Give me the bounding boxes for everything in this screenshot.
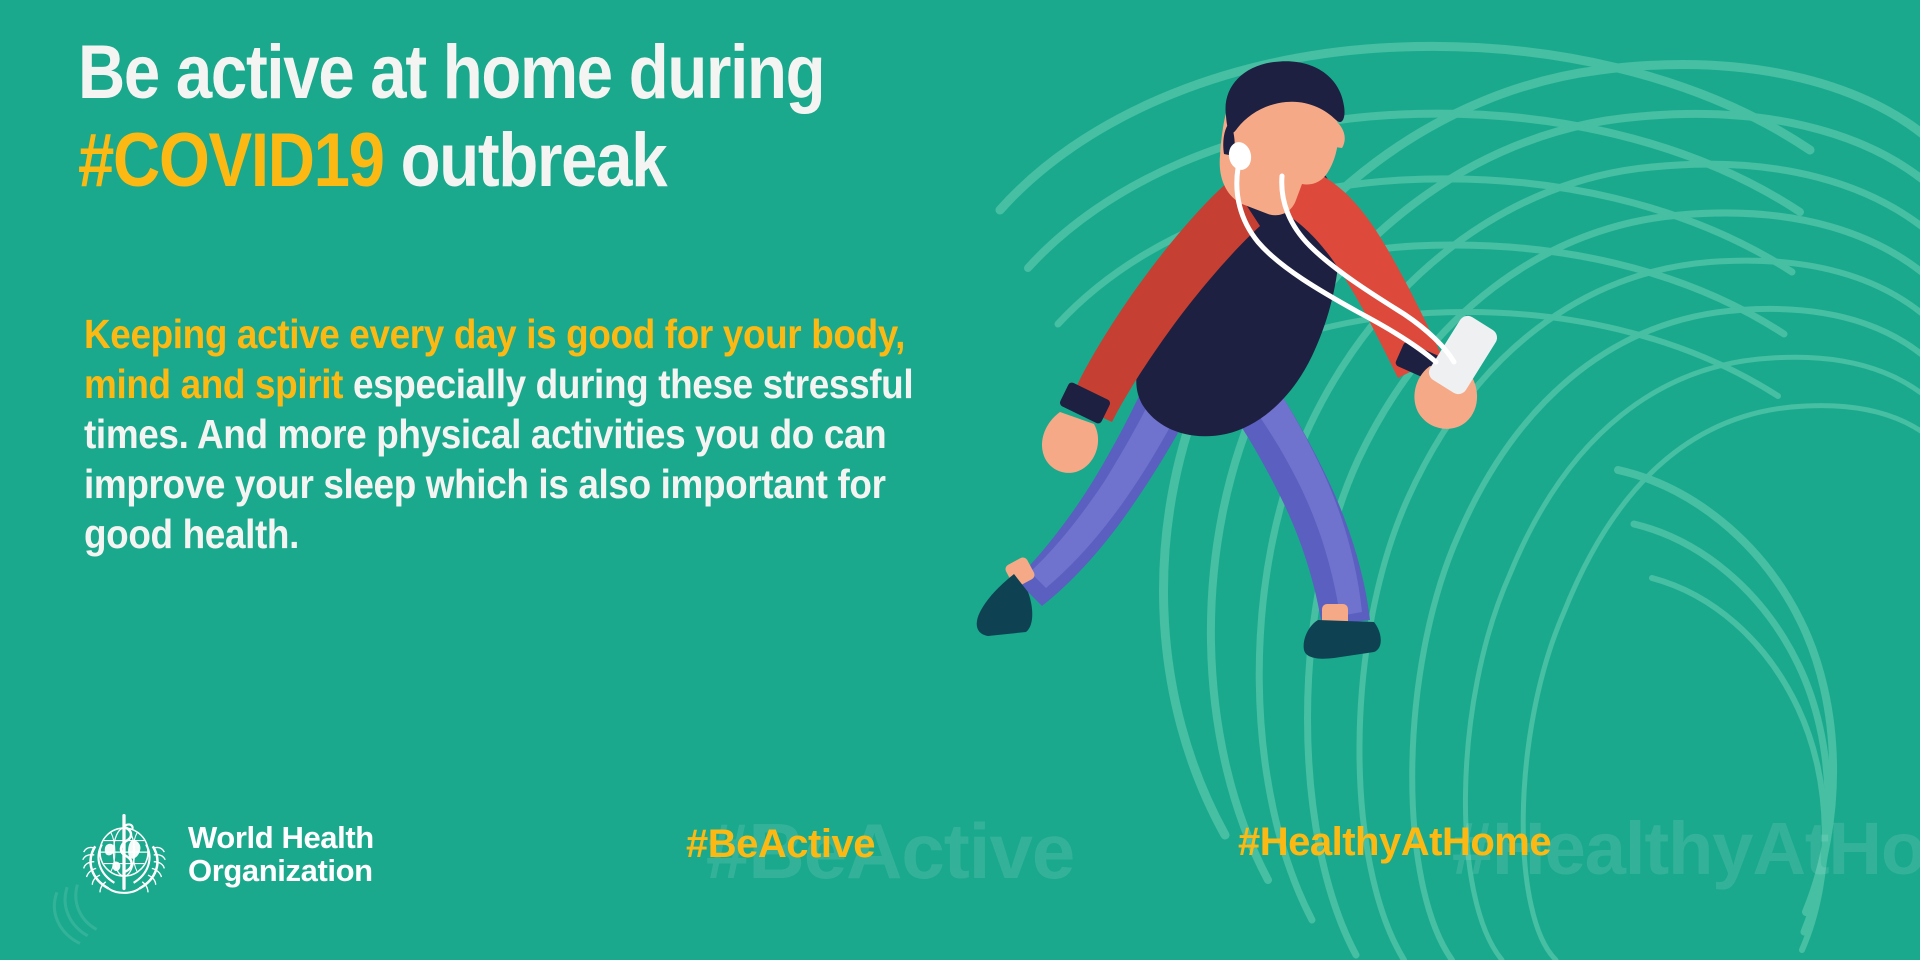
runner-back-shoe — [977, 556, 1037, 636]
runner-rear-hand — [1042, 412, 1098, 473]
body-copy: Keeping active every day is good for you… — [84, 309, 930, 559]
headline-line-1: Be active at home during — [78, 36, 938, 110]
poster-root: #BeActive #HealthyAtHome — [0, 0, 1920, 960]
runner-front-shoe — [1304, 604, 1381, 659]
who-logo: World Health Organization — [76, 806, 374, 902]
headline-hashtag-covid19: #COVID19 — [78, 118, 384, 203]
hashtag-beactive: #BeActive — [686, 822, 875, 867]
headline-line-2: #COVID19 outbreak — [78, 124, 938, 198]
headline-outbreak: outbreak — [384, 118, 667, 203]
who-wordmark: World Health Organization — [188, 821, 374, 888]
runner-illustration — [930, 60, 1570, 660]
who-wordmark-line1: World Health — [188, 821, 374, 854]
hashtag-healthyathome: #HealthyAtHome — [1238, 820, 1551, 865]
who-emblem-icon — [76, 806, 172, 902]
headline: Be active at home during #COVID19 outbre… — [78, 36, 938, 199]
who-wordmark-line2: Organization — [188, 854, 374, 887]
